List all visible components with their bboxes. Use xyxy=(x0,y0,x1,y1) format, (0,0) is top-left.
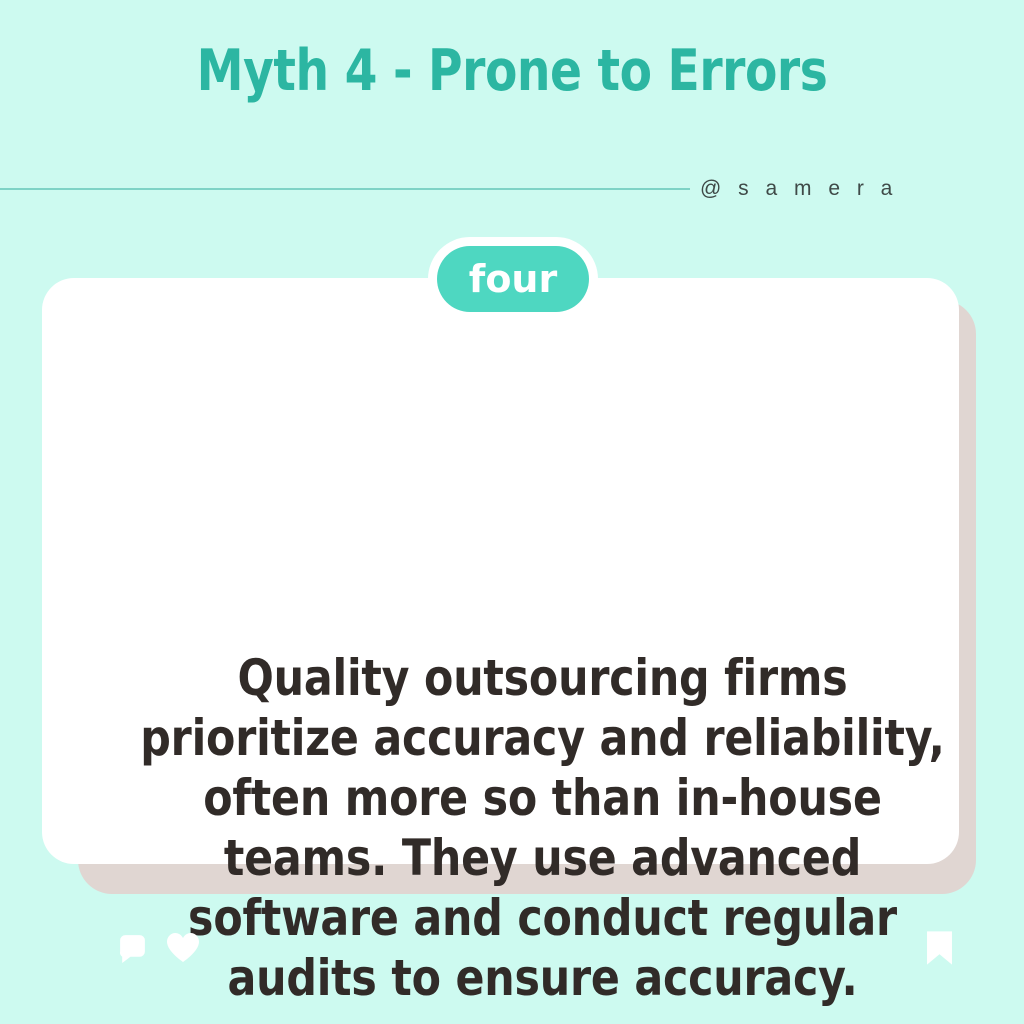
slide-canvas: Myth 4 - Prone to Errors @ s a m e r a Q… xyxy=(0,0,1024,1024)
heart-icon[interactable] xyxy=(166,932,200,964)
comment-icon[interactable] xyxy=(116,932,149,965)
body-line: teams. They use advanced xyxy=(126,828,959,888)
body-line: Quality outsourcing firms xyxy=(126,648,959,708)
body-line: often more so than in-house xyxy=(126,768,959,828)
account-handle: @ s a m e r a xyxy=(700,176,940,202)
content-card: Quality outsourcing firms prioritize acc… xyxy=(42,278,959,864)
body-line: prioritize accuracy and reliability, xyxy=(126,708,959,768)
social-action-bar xyxy=(0,928,1024,988)
bookmark-icon[interactable] xyxy=(926,930,953,966)
page-title: Myth 4 - Prone to Errors xyxy=(41,36,983,106)
step-number-badge: four xyxy=(437,246,589,312)
header-divider xyxy=(0,188,690,190)
step-number-label: four xyxy=(469,260,557,298)
